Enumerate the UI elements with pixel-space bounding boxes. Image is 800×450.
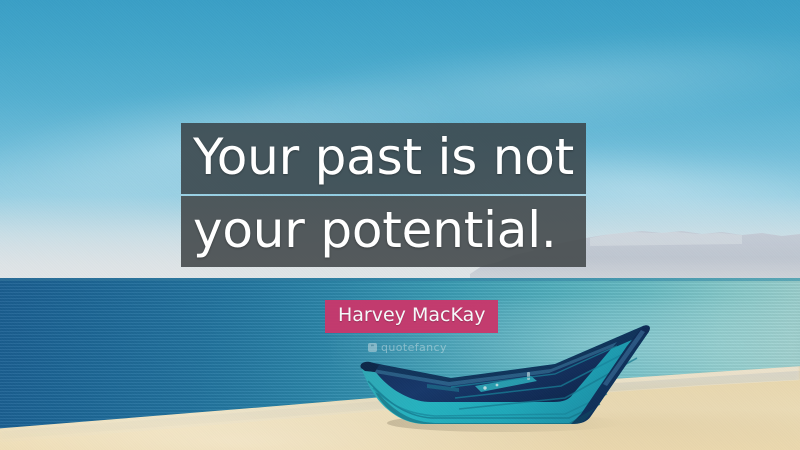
horizon-line: [0, 278, 800, 281]
quote-line-1: Your past is not: [181, 123, 586, 194]
watermark-brand-label: quotefancy: [381, 342, 447, 353]
author-attribution: Harvey MacKay: [325, 300, 498, 333]
quote-poster: Your past is not your potential. Harvey …: [0, 0, 800, 450]
watermark[interactable]: ❞ quotefancy: [368, 342, 447, 353]
quote-line-2: your potential.: [181, 196, 586, 267]
quote-text-block: Your past is not your potential.: [181, 123, 586, 267]
quotefancy-logo-icon: ❞: [368, 343, 377, 352]
